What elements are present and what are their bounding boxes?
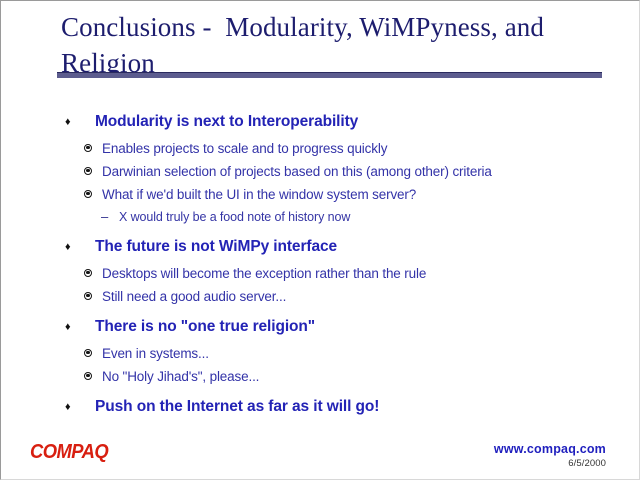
diamond-bullet: ♦: [65, 111, 95, 133]
eye-bullet: [65, 184, 102, 205]
outline-group-gap: [65, 389, 625, 396]
title-underline-rule: [57, 72, 602, 78]
outline-item-level1: ♦Push on the Internet as far as it will …: [65, 396, 625, 421]
outline-item-text: Darwinian selection of projects based on…: [102, 161, 625, 182]
eye-bullet: [65, 286, 102, 307]
dash-bullet: –: [65, 207, 119, 227]
eye-bullet-glyph: [84, 167, 92, 175]
eye-bullet-glyph: [84, 190, 92, 198]
outline-item-text: Enables projects to scale and to progres…: [102, 138, 625, 159]
outline-item-text: There is no "one true religion": [95, 316, 625, 338]
eye-bullet-glyph: [84, 269, 92, 277]
eye-bullet: [65, 343, 102, 364]
outline-item-level3: –X would truly be a food note of history…: [65, 207, 625, 229]
outline-group-gap: [65, 309, 625, 316]
outline-item-text: Push on the Internet as far as it will g…: [95, 396, 625, 418]
outline-item-text: Desktops will become the exception rathe…: [102, 263, 625, 284]
page-title: Conclusions - Modularity, WiMPyness, and…: [61, 9, 606, 81]
footer-date: 6/5/2000: [568, 458, 606, 469]
outline-item-text: Still need a good audio server...: [102, 286, 625, 307]
outline-item-text: What if we'd built the UI in the window …: [102, 184, 625, 205]
outline-item-text: Modularity is next to Interoperability: [95, 111, 625, 133]
compaq-logo: COMPAQ: [30, 441, 108, 464]
presentation-slide: Conclusions - Modularity, WiMPyness, and…: [0, 0, 640, 480]
eye-bullet-glyph: [84, 292, 92, 300]
outline-item-level1: ♦Modularity is next to Interoperability: [65, 111, 625, 136]
slide-title-block: Conclusions - Modularity, WiMPyness, and…: [61, 9, 606, 81]
outline-item-level2: Still need a good audio server...: [65, 286, 625, 309]
outline-group-gap: [65, 229, 625, 236]
diamond-bullet: ♦: [65, 316, 95, 338]
outline-item-level2: Desktops will become the exception rathe…: [65, 263, 625, 286]
eye-bullet-glyph: [84, 144, 92, 152]
outline-item-level2: Even in systems...: [65, 343, 625, 366]
outline-item-level2: No "Holy Jihad's", please...: [65, 366, 625, 389]
outline-item-text: The future is not WiMPy interface: [95, 236, 625, 258]
outline-item-text: Even in systems...: [102, 343, 625, 364]
outline-item-level2: What if we'd built the UI in the window …: [65, 184, 625, 207]
eye-bullet-glyph: [84, 372, 92, 380]
diamond-bullet: ♦: [65, 396, 95, 418]
eye-bullet: [65, 138, 102, 159]
outline-item-level1: ♦There is no "one true religion": [65, 316, 625, 341]
outline-item-level2: Enables projects to scale and to progres…: [65, 138, 625, 161]
footer-url[interactable]: www.compaq.com: [494, 442, 606, 456]
outline-item-text: X would truly be a food note of history …: [119, 207, 625, 227]
eye-bullet: [65, 263, 102, 284]
diamond-bullet: ♦: [65, 236, 95, 258]
outline-item-text: No "Holy Jihad's", please...: [102, 366, 625, 387]
eye-bullet: [65, 366, 102, 387]
slide-body-outline: ♦Modularity is next to InteroperabilityE…: [65, 111, 625, 423]
eye-bullet: [65, 161, 102, 182]
eye-bullet-glyph: [84, 349, 92, 357]
outline-item-level1: ♦The future is not WiMPy interface: [65, 236, 625, 261]
outline-item-level2: Darwinian selection of projects based on…: [65, 161, 625, 184]
